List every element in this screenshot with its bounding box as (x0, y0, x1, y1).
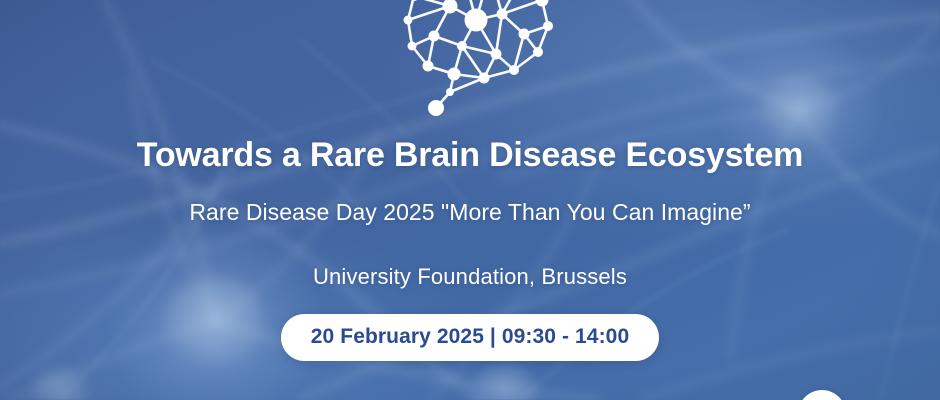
banner-subtitle: Rare Disease Day 2025 "More Than You Can… (0, 199, 940, 227)
date-badge-container: 20 February 2025 | 09:30 - 14:00 (0, 314, 940, 361)
page-title: Towards a Rare Brain Disease Ecosystem (0, 136, 940, 175)
date-time-badge: 20 February 2025 | 09:30 - 14:00 (281, 314, 659, 361)
venue-label: University Foundation, Brussels (0, 264, 940, 290)
brain-network-logo-icon (392, 0, 568, 120)
event-banner: Towards a Rare Brain Disease Ecosystem R… (0, 0, 940, 400)
